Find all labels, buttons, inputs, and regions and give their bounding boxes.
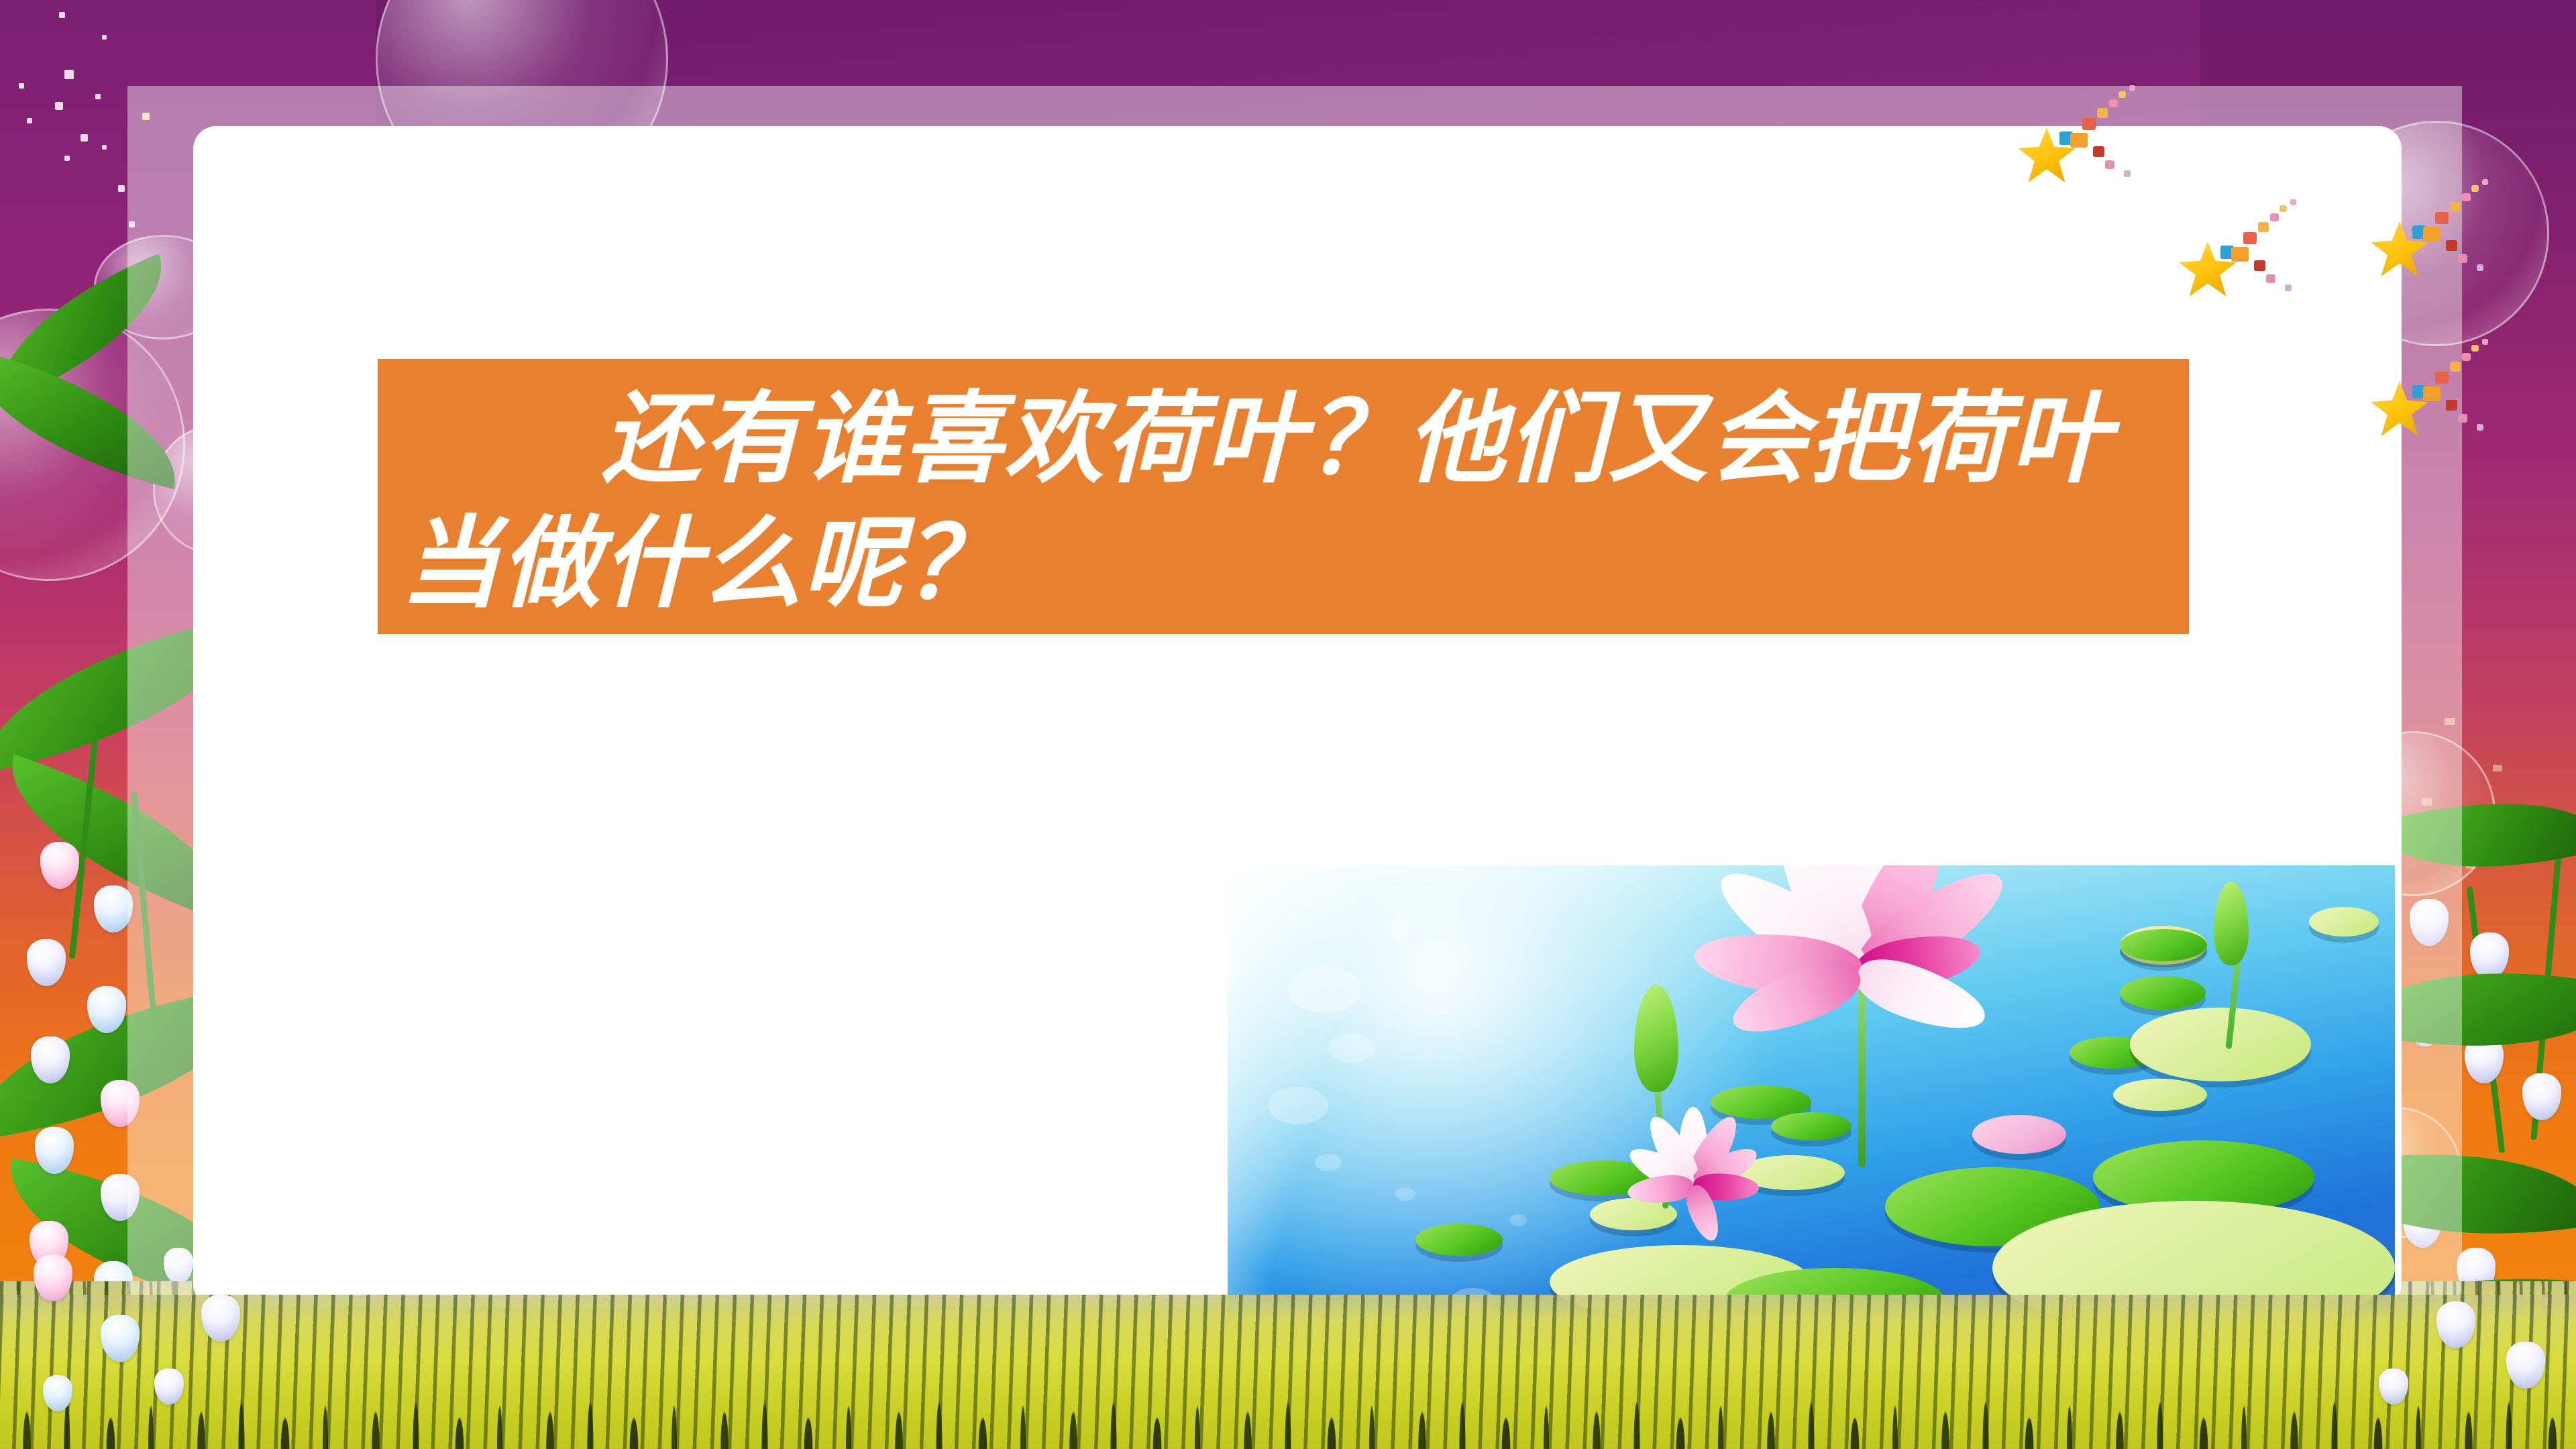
lotus-flower: [1858, 966, 1865, 973]
lotus-pond-illustration: [1228, 865, 2395, 1322]
grass-tufts-front: [0, 1322, 2576, 1449]
shooting-star-icon: [2371, 180, 2498, 280]
shooting-star-icon: [2371, 339, 2498, 440]
lily-pad: [1771, 1112, 1851, 1140]
question-text-panel: 还有谁喜欢荷叶？他们又会把荷叶当做什么呢？: [378, 359, 2189, 634]
lotus-flower-small: [1690, 1181, 1696, 1186]
slide-stage: 还有谁喜欢荷叶？他们又会把荷叶当做什么呢？: [0, 0, 2576, 1449]
lily-pad: [2113, 1079, 2207, 1111]
lily-pad: [1415, 1224, 1503, 1256]
question-text: 还有谁喜欢荷叶？他们又会把荷叶当做什么呢？: [400, 378, 2166, 628]
lily-pad: [2130, 1008, 2311, 1081]
lily-pad: [2120, 976, 2206, 1010]
lily-pad: [2120, 929, 2207, 961]
lotus-bud: [2214, 881, 2249, 965]
lotus-bud: [1634, 985, 1678, 1092]
shooting-star-icon: [2179, 200, 2306, 301]
lily-pad: [2309, 907, 2379, 936]
lily-pad: [1972, 1115, 2066, 1154]
shooting-star-icon: [2018, 86, 2145, 186]
